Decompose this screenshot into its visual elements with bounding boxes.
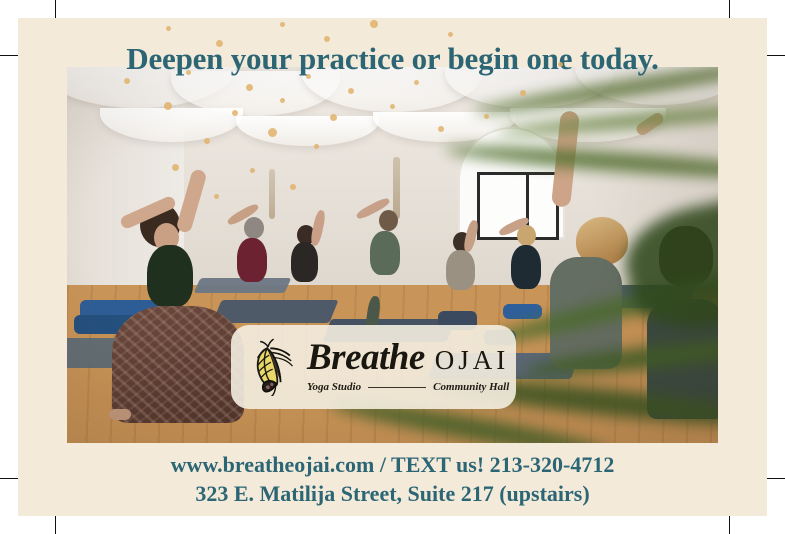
logo-brand-name: Breathe	[307, 339, 425, 376]
contact-block: www.breatheojai.com / TEXT us! 213-320-4…	[18, 450, 767, 508]
confetti-dot	[280, 22, 285, 27]
logo-text: Breathe OJAI Yoga Studio Community Hall	[307, 339, 509, 393]
contact-web-and-text[interactable]: www.breatheojai.com / TEXT us! 213-320-4…	[18, 450, 767, 479]
brand-logo: Breathe OJAI Yoga Studio Community Hall	[231, 325, 516, 409]
logo-tagline: Yoga Studio Community Hall	[307, 381, 509, 393]
logo-tagline-left: Yoga Studio	[307, 381, 361, 393]
confetti-dot	[166, 26, 171, 31]
page-title: Deepen your practice or begin one today.	[18, 40, 767, 78]
confetti-dot	[448, 32, 453, 37]
ad-card: Deepen your practice or begin one today.	[18, 18, 767, 516]
print-ad-canvas: Deepen your practice or begin one today.	[0, 0, 785, 534]
logo-divider-rule	[368, 387, 426, 388]
contact-address: 323 E. Matilija Street, Suite 217 (upsta…	[18, 479, 767, 508]
logo-wordmark: Breathe OJAI	[307, 339, 509, 376]
butterfly-icon	[245, 338, 303, 396]
logo-tagline-right: Community Hall	[433, 381, 509, 393]
logo-location: OJAI	[435, 347, 510, 374]
confetti-dot	[370, 20, 378, 28]
